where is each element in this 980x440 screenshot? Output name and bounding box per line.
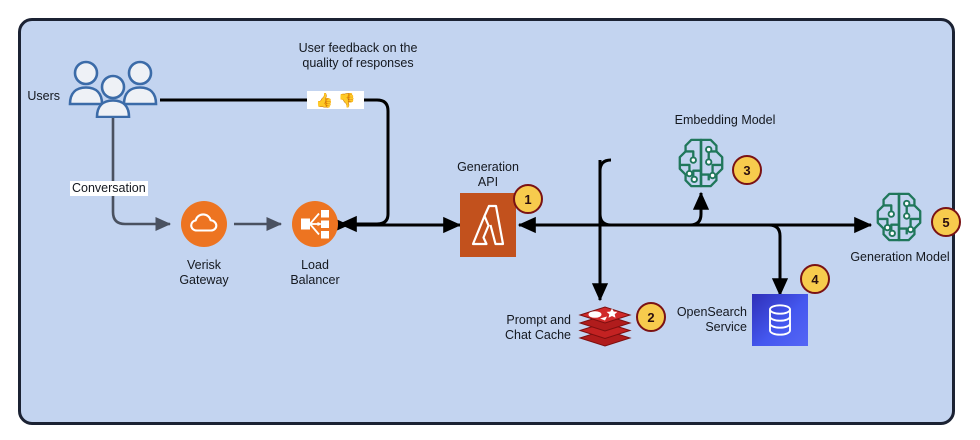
cloud-gateway-icon <box>189 209 219 239</box>
thumbs-down-icon: 👎 <box>338 93 355 107</box>
badge-generation-model: 5 <box>931 207 961 237</box>
node-opensearch-service[interactable] <box>752 294 808 346</box>
diagram-canvas: Users User feedback on the quality of re… <box>0 0 980 440</box>
badge-embedding-model: 3 <box>732 155 762 185</box>
badge-generation-api: 1 <box>513 184 543 214</box>
conversation-edge-label: Conversation <box>70 181 148 196</box>
node-prompt-chat-cache[interactable] <box>578 303 632 351</box>
badge-prompt-chat-cache: 2 <box>636 302 666 332</box>
feedback-note-label: User feedback on the quality of response… <box>283 41 433 70</box>
bedrock-brain-icon <box>674 136 728 190</box>
verisk-gateway-label: Verisk Gateway <box>157 258 251 287</box>
load-balancer-label: Load Balancer <box>268 258 362 287</box>
prompt-chat-cache-label: Prompt and Chat Cache <box>496 313 571 342</box>
node-load-balancer[interactable] <box>292 201 338 247</box>
users-group-icon <box>66 60 160 118</box>
opensearch-service-label: OpenSearch Service <box>669 305 747 334</box>
generation-model-label: Generation Model <box>838 250 962 265</box>
node-generation-model[interactable] <box>872 190 926 244</box>
feedback-thumbs-chip[interactable]: 👍 👎 <box>307 91 364 109</box>
bedrock-brain-icon <box>872 190 926 244</box>
embedding-model-label: Embedding Model <box>640 113 810 128</box>
badge-opensearch-service: 4 <box>800 264 830 294</box>
users-label: Users <box>0 89 60 104</box>
aws-lambda-icon <box>470 204 506 246</box>
node-generation-api[interactable] <box>460 193 516 257</box>
thumbs-up-icon: 👍 <box>316 93 333 107</box>
redis-icon <box>578 303 632 351</box>
node-users[interactable] <box>66 60 160 118</box>
node-verisk-gateway[interactable] <box>181 201 227 247</box>
opensearch-database-icon <box>767 304 793 336</box>
load-balancer-icon <box>299 209 331 239</box>
node-embedding-model[interactable] <box>674 136 728 190</box>
